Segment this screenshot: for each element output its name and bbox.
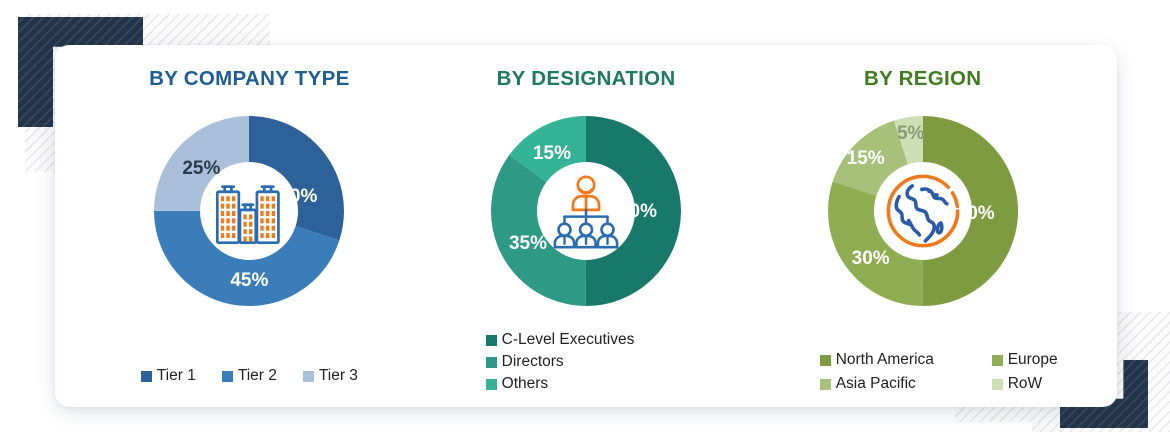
chart-title-company-type: BY COMPANY TYPE [149,67,349,91]
legend-item-directors[interactable]: Directors [486,353,564,371]
legend-label-c-level-executives: C-Level Executives [502,331,635,349]
legend-label-asia-pacific: Asia Pacific [836,375,916,393]
legend-item-tier-3[interactable]: Tier 3 [303,367,358,385]
legend-label-tier-3: Tier 3 [319,367,358,385]
donut-chart-designation: 50% 35% 15% [486,111,686,311]
legend-region: North America Europe Asia Pacific RoW [754,351,1091,393]
infographic-root: BY COMPANY TYPE 30% [0,0,1170,444]
legend-item-others[interactable]: Others [486,375,549,393]
chart-panel-region: BY REGION 5 [754,67,1091,407]
legend-swatch-europe [992,355,1003,366]
legend-swatch-asia-pacific [820,379,831,390]
legend-item-tier-2[interactable]: Tier 2 [222,367,277,385]
legend-label-north-america: North America [836,351,934,369]
legend-label-directors: Directors [502,353,564,371]
legend-label-tier-2: Tier 2 [238,367,277,385]
org-chart-icon [543,168,629,254]
legend-label-row: RoW [1008,375,1042,393]
legend-swatch-tier-3 [303,371,314,382]
donut-chart-region: 50% 30% 15% 5% [823,111,1023,311]
legend-swatch-north-america [820,355,831,366]
legend-swatch-directors [486,357,497,368]
legend-item-asia-pacific[interactable]: Asia Pacific [820,375,992,393]
content-card: BY COMPANY TYPE 30% [55,45,1117,407]
legend-designation: C-Level Executives Directors Others [418,331,755,393]
legend-label-europe: Europe [1008,351,1058,369]
buildings-icon [206,168,292,254]
legend-swatch-others [486,379,497,390]
legend-item-row[interactable]: RoW [992,375,1058,393]
globe-icon [880,168,966,254]
chart-title-designation: BY DESIGNATION [497,67,676,91]
donut-chart-company-type: 30% 45% 25% [149,111,349,311]
chart-panel-designation: BY DESIGNATION 50% 35% [418,67,755,407]
chart-title-region: BY REGION [864,67,981,91]
legend-item-north-america[interactable]: North America [820,351,992,369]
legend-label-others: Others [502,375,549,393]
legend-swatch-tier-2 [222,371,233,382]
legend-item-c-level-executives[interactable]: C-Level Executives [486,331,635,349]
legend-item-europe[interactable]: Europe [992,351,1058,369]
legend-swatch-c-level-executives [486,335,497,346]
legend-item-tier-1[interactable]: Tier 1 [141,367,196,385]
charts-container: BY COMPANY TYPE 30% [55,45,1117,407]
legend-label-tier-1: Tier 1 [157,367,196,385]
legend-swatch-tier-1 [141,371,152,382]
legend-company-type: Tier 1 Tier 2 Tier 3 [81,367,418,385]
chart-panel-company-type: BY COMPANY TYPE 30% [81,67,418,407]
legend-swatch-row [992,379,1003,390]
